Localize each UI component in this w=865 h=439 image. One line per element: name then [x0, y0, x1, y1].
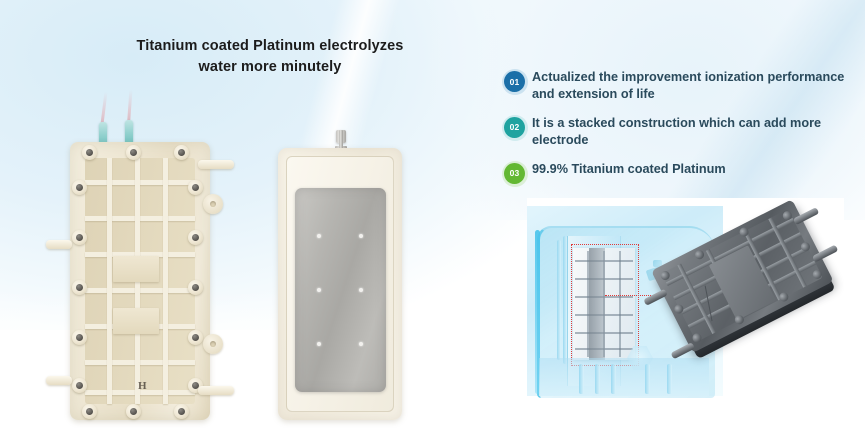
tube-icon	[579, 364, 584, 394]
electrode-plate-image	[278, 130, 408, 422]
inlet-port-icon	[46, 240, 72, 249]
tube-icon	[611, 364, 616, 394]
feature-list: 01 Actualized the improvement ionization…	[500, 68, 850, 187]
badge-number-03: 03	[504, 163, 525, 184]
badge-number-02: 02	[504, 117, 525, 138]
mounting-ear-icon	[203, 194, 223, 214]
poster-canvas: Titanium coated Platinum electrolyzes wa…	[0, 0, 865, 439]
cell-pad	[113, 256, 159, 282]
electrode-plate-frame	[278, 148, 402, 420]
highlight-callout-box	[571, 244, 639, 366]
page-title: Titanium coated Platinum electrolyzes wa…	[120, 36, 420, 77]
badge-number-01: 01	[504, 71, 525, 92]
page-title-line-1: Titanium coated Platinum electrolyzes	[120, 36, 420, 57]
feature-badge-01: 01	[500, 69, 530, 95]
outlet-port-icon	[198, 160, 234, 169]
page-title-line-2: water more minutely	[120, 57, 420, 78]
outlet-port-icon	[198, 386, 234, 395]
feature-item-01: 01 Actualized the improvement ionization…	[500, 68, 850, 103]
tube-icon	[595, 364, 600, 394]
feature-badge-02: 02	[500, 115, 530, 141]
housing-marking: H	[138, 380, 147, 392]
cell-pad	[113, 308, 159, 334]
tube-icon	[667, 364, 672, 394]
composite-illustration	[527, 198, 844, 403]
tube-icon	[645, 364, 650, 394]
feature-text-03: 99.9% Titanium coated Platinum	[530, 160, 850, 178]
feature-text-01: Actualized the improvement ionization pe…	[530, 68, 850, 103]
tube-icon	[563, 236, 567, 364]
feature-item-03: 03 99.9% Titanium coated Platinum	[500, 160, 850, 187]
inlet-port-icon	[46, 376, 72, 385]
feature-item-02: 02 It is a stacked construction which ca…	[500, 114, 850, 149]
electrolysis-cell-housing-image: H	[62, 128, 232, 428]
tube-icon	[557, 240, 561, 360]
cell-housing-body: H	[70, 142, 210, 420]
mounting-ear-icon	[203, 334, 223, 354]
feature-text-02: It is a stacked construction which can a…	[530, 114, 850, 149]
titanium-platinum-plate	[295, 188, 386, 392]
feature-badge-03: 03	[500, 161, 530, 187]
cell-housing-grid	[85, 158, 195, 404]
appliance-base-ghost	[539, 358, 709, 396]
